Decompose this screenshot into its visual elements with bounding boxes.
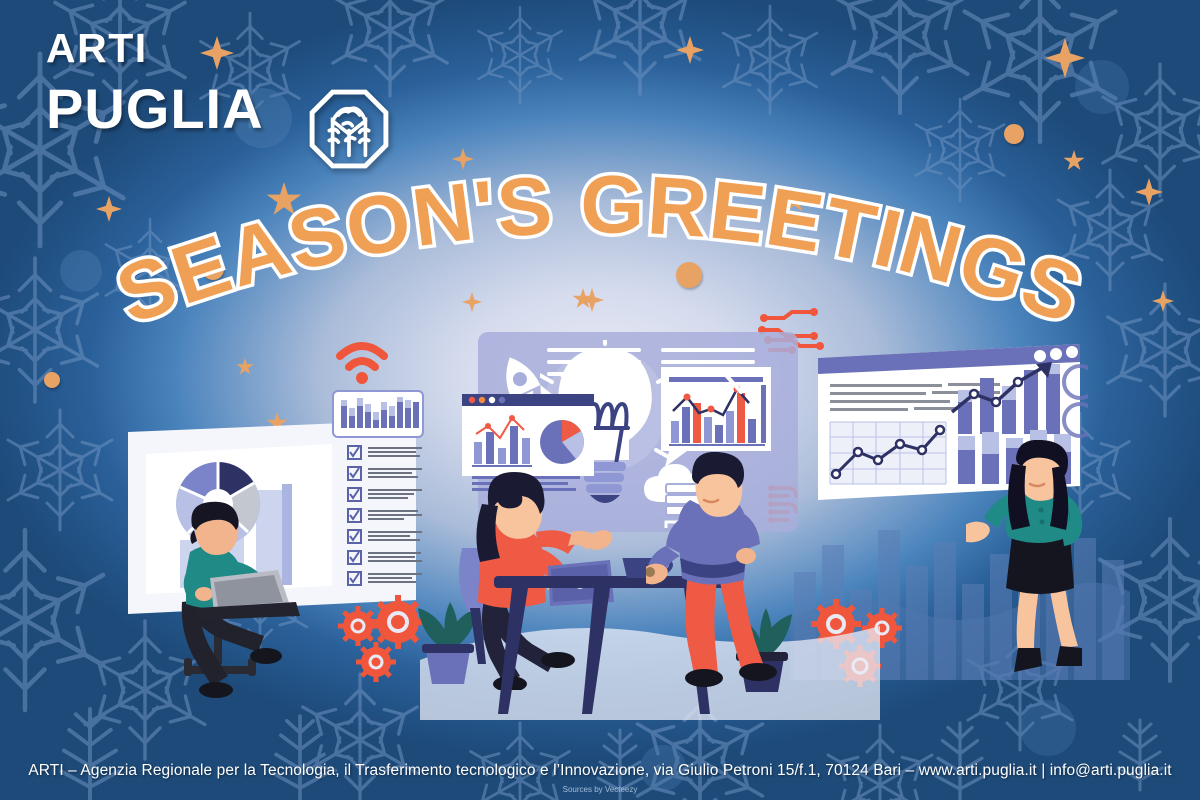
wifi-card-bar-chart [332, 390, 424, 438]
image-credit: Sources by Vecteezy [0, 785, 1200, 794]
footer-contact-text: ARTI – Agenzia Regionale per la Tecnolog… [0, 762, 1200, 780]
woman-presenter-figure [966, 440, 1116, 680]
speech-lines-right [649, 342, 759, 398]
speech-lines-left [543, 342, 653, 398]
man-presenting-figure [646, 452, 806, 692]
wifi-icon [334, 336, 390, 386]
analyst-at-laptop-figure [150, 500, 330, 720]
illustration-scene [0, 0, 1200, 800]
greeting-card: ARTI PUGLIA SEASON'S GREETINGS [0, 0, 1200, 800]
